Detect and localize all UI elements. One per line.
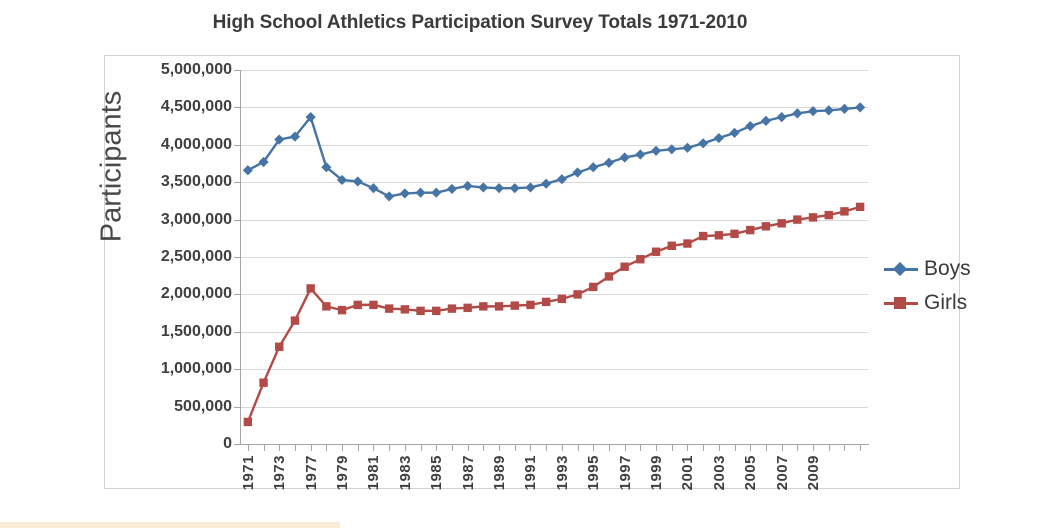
x-tick-label: 1991 — [522, 455, 539, 490]
x-tick-mark — [530, 445, 531, 451]
x-tick-mark — [483, 445, 484, 451]
x-tick-mark — [389, 445, 390, 451]
x-tick-mark — [703, 445, 704, 451]
x-tick-mark — [719, 445, 720, 451]
y-tick-label: 500,000 — [108, 398, 232, 416]
x-tick-label: 2003 — [711, 455, 728, 490]
gridline — [240, 107, 868, 108]
x-tick-mark — [750, 445, 751, 451]
gridline — [240, 294, 868, 295]
chart-page: . . _ . . High School Athletics Particip… — [0, 0, 1062, 528]
x-tick-mark — [766, 445, 767, 451]
x-tick-mark — [609, 445, 610, 451]
legend-item-boys[interactable]: Boys — [884, 252, 1004, 286]
x-tick-label: 2001 — [679, 455, 696, 490]
x-tick-label: 1999 — [648, 455, 665, 490]
x-tick-label: 1981 — [365, 455, 382, 490]
y-tick-label: 1,500,000 — [108, 323, 232, 341]
x-tick-mark — [735, 445, 736, 451]
y-tick-label: 2,000,000 — [108, 285, 232, 303]
ghost-cropped-text: . . _ . . — [180, 0, 800, 9]
legend-item-girls[interactable]: Girls — [884, 286, 1004, 320]
x-tick-mark — [844, 445, 845, 451]
y-tick-label: 2,500,000 — [108, 248, 232, 266]
x-tick-mark — [452, 445, 453, 451]
x-tick-label: 1979 — [334, 455, 351, 490]
y-tick-label: 1,000,000 — [108, 360, 232, 378]
x-tick-mark — [813, 445, 814, 451]
gridline — [240, 145, 868, 146]
y-tick-label: 0 — [108, 435, 232, 453]
chart-frame — [104, 55, 960, 489]
x-tick-mark — [546, 445, 547, 451]
x-axis-line — [240, 444, 869, 445]
gridline — [240, 220, 868, 221]
x-tick-label: 1971 — [240, 455, 257, 490]
legend-label-boys: Boys — [924, 257, 971, 281]
x-tick-label: 1983 — [397, 455, 414, 490]
gridline — [240, 369, 868, 370]
x-tick-mark — [562, 445, 563, 451]
gridline — [240, 70, 868, 71]
x-tick-mark — [656, 445, 657, 451]
y-tick-label: 5,000,000 — [108, 61, 232, 79]
chart-title: High School Athletics Participation Surv… — [0, 12, 960, 34]
x-tick-mark — [625, 445, 626, 451]
x-tick-mark — [797, 445, 798, 451]
gridline — [240, 257, 868, 258]
x-tick-label: 1997 — [617, 455, 634, 490]
x-tick-mark — [593, 445, 594, 451]
x-tick-mark — [248, 445, 249, 451]
chart-legend: Boys Girls — [884, 252, 1004, 320]
x-tick-mark — [279, 445, 280, 451]
x-tick-mark — [687, 445, 688, 451]
y-tick-label: 3,000,000 — [108, 211, 232, 229]
x-tick-mark — [358, 445, 359, 451]
x-tick-mark — [515, 445, 516, 451]
x-tick-label: 2005 — [742, 455, 759, 490]
x-tick-label: 2009 — [805, 455, 822, 490]
x-tick-mark — [342, 445, 343, 451]
legend-marker-square-icon — [884, 296, 918, 310]
x-tick-mark — [499, 445, 500, 451]
y-axis-line — [240, 70, 241, 445]
x-tick-label: 1993 — [554, 455, 571, 490]
x-tick-mark — [264, 445, 265, 451]
x-tick-mark — [436, 445, 437, 451]
y-tick-label: 3,500,000 — [108, 173, 232, 191]
x-tick-mark — [373, 445, 374, 451]
x-tick-label: 1977 — [303, 455, 320, 490]
x-tick-label: 1973 — [271, 455, 288, 490]
x-tick-label: 2007 — [774, 455, 791, 490]
x-tick-mark — [860, 445, 861, 451]
x-tick-mark — [672, 445, 673, 451]
x-tick-mark — [829, 445, 830, 451]
gridline — [240, 407, 868, 408]
x-tick-mark — [782, 445, 783, 451]
legend-marker-diamond-icon — [884, 262, 918, 276]
gridline — [240, 332, 868, 333]
x-tick-mark — [640, 445, 641, 451]
x-tick-mark — [421, 445, 422, 451]
x-tick-mark — [295, 445, 296, 451]
x-tick-mark — [311, 445, 312, 451]
x-tick-label: 1989 — [491, 455, 508, 490]
x-tick-mark — [405, 445, 406, 451]
x-tick-label: 1987 — [460, 455, 477, 490]
gridline — [240, 182, 868, 183]
x-tick-mark — [578, 445, 579, 451]
y-tick-label: 4,000,000 — [108, 136, 232, 154]
bottom-accent-strip — [0, 522, 340, 528]
legend-label-girls: Girls — [924, 291, 967, 315]
x-tick-label: 1995 — [585, 455, 602, 490]
x-tick-label: 1985 — [428, 455, 445, 490]
y-tick-label: 4,500,000 — [108, 98, 232, 116]
x-tick-mark — [468, 445, 469, 451]
x-tick-mark — [326, 445, 327, 451]
